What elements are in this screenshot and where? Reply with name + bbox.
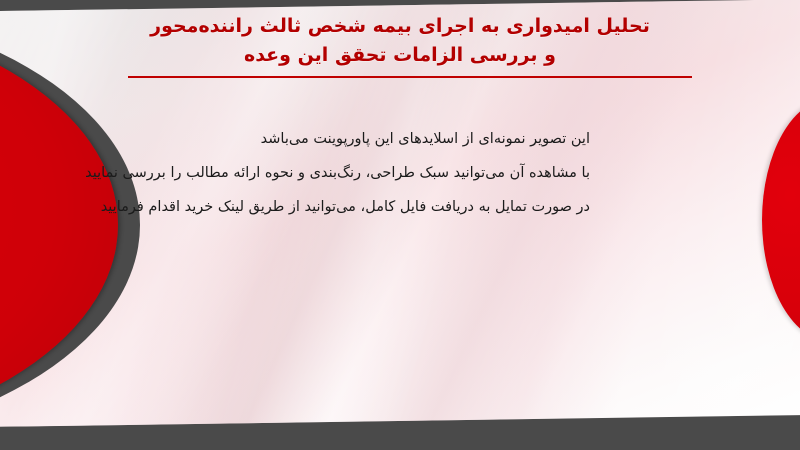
body-line-1: این تصویر نمونه‌ای از اسلایدهای این پاور… xyxy=(70,122,590,156)
body-line-3: در صورت تمایل به دریافت فایل کامل، می‌تو… xyxy=(70,190,590,224)
title-underline-rule xyxy=(128,76,692,78)
slide-title: تحلیل امیدواری به اجرای بیمه شخص ثالث را… xyxy=(0,12,800,70)
body-line-2: با مشاهده آن می‌توانید سبک طراحی، رنگ‌بن… xyxy=(70,156,590,190)
presentation-slide: تحلیل امیدواری به اجرای بیمه شخص ثالث را… xyxy=(0,0,800,450)
title-line-2: و بررسی الزامات تحقق این وعده xyxy=(0,41,800,70)
title-line-1: تحلیل امیدواری به اجرای بیمه شخص ثالث را… xyxy=(0,12,800,41)
slide-body-text: این تصویر نمونه‌ای از اسلایدهای این پاور… xyxy=(70,122,590,224)
